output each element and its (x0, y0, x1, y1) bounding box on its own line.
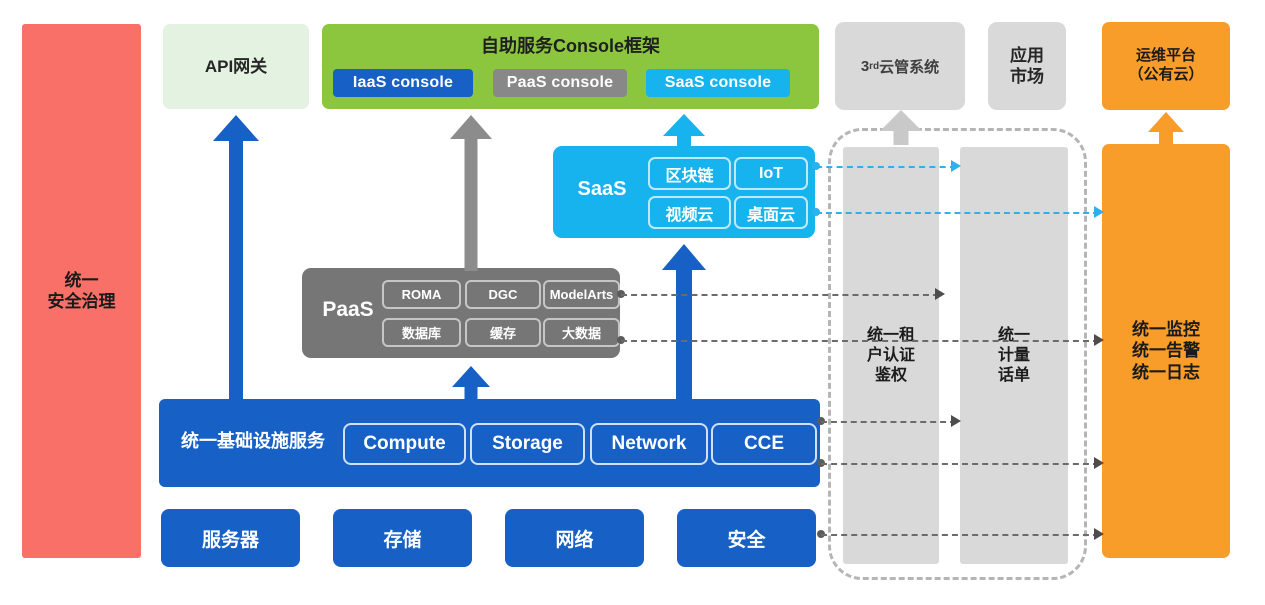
saas-layer-box[interactable]: SaaS 区块链 IoT 视频云 桌面云 (553, 146, 815, 238)
api-gateway-box[interactable]: API网关 (163, 24, 309, 109)
connector-saas-to-auth (816, 166, 956, 168)
saas-service-iot[interactable]: IoT (734, 157, 808, 190)
paas-layer-box[interactable]: PaaS ROMA DGC ModelArts 数据库 缓存 大数据 (302, 268, 620, 358)
console-framework-title: 自助服务Console框架 (322, 32, 819, 58)
third-party-label: 云管系统 (879, 56, 939, 77)
connector-hardware-to-ops (821, 534, 1099, 536)
console-framework-box[interactable]: 自助服务Console框架 IaaS console PaaS console … (322, 24, 819, 109)
architecture-diagram: 统一 安全治理 API网关 自助服务Console框架 IaaS console… (0, 0, 1265, 605)
paas-service-database[interactable]: 数据库 (382, 318, 461, 347)
arrow-platform-to-third-party (880, 110, 922, 145)
arrow-infra-to-paas (452, 366, 490, 402)
infra-service-storage[interactable]: Storage (470, 423, 585, 465)
api-gateway-label: API网关 (205, 56, 267, 77)
app-market-label: 应用 市场 (1010, 45, 1044, 88)
paas-layer-title: PaaS (310, 298, 386, 322)
arrow-saas-to-console (663, 114, 705, 150)
hardware-security-box[interactable]: 安全 (677, 509, 816, 567)
third-party-cloud-mgmt-box[interactable]: 3rd云管系统 (835, 22, 965, 110)
connector-arrowhead-saas-ops (1094, 206, 1104, 218)
arrow-paas-to-console (450, 115, 492, 271)
connector-arrowhead-infra-ops (1094, 457, 1104, 469)
hardware-storage-box[interactable]: 存储 (333, 509, 472, 567)
connector-arrowhead-paas-ops (1094, 334, 1104, 346)
ops-platform-top-label: 运维平台 （公有云） (1128, 47, 1203, 85)
paas-service-dgc[interactable]: DGC (465, 280, 541, 309)
iaas-console-chip[interactable]: IaaS console (333, 69, 473, 97)
arrow-infra-to-api-gateway (213, 115, 259, 399)
paas-service-cache[interactable]: 缓存 (465, 318, 541, 347)
connector-infra-to-auth (821, 421, 956, 423)
paas-console-chip[interactable]: PaaS console (493, 69, 627, 97)
hardware-server-box[interactable]: 服务器 (161, 509, 300, 567)
security-governance-label: 统一 安全治理 (48, 270, 116, 313)
unified-monitoring-panel[interactable]: 统一监控 统一告警 统一日志 (1102, 144, 1230, 558)
unified-monitoring-label: 统一监控 统一告警 统一日志 (1132, 319, 1200, 383)
unified-metering-label: 统一 计量 话单 (998, 326, 1030, 386)
hardware-network-box[interactable]: 网络 (505, 509, 644, 567)
connector-paas-to-auth (621, 294, 939, 296)
infra-service-compute[interactable]: Compute (343, 423, 466, 465)
ops-platform-public-cloud-box[interactable]: 运维平台 （公有云） (1102, 22, 1230, 110)
connector-infra-to-ops (821, 463, 1099, 465)
arrow-ops-body-to-ops-top (1148, 112, 1184, 148)
unified-metering-column[interactable]: 统一 计量 话单 (960, 147, 1068, 564)
saas-layer-title: SaaS (563, 178, 641, 201)
app-market-box[interactable]: 应用 市场 (988, 22, 1066, 110)
unified-infrastructure-title: 统一基础设施服务 (173, 427, 333, 453)
paas-service-bigdata[interactable]: 大数据 (543, 318, 620, 347)
connector-arrowhead-infra-auth (951, 415, 961, 427)
third-party-superscript: rd (869, 61, 879, 72)
connector-arrowhead-paas-auth (935, 288, 945, 300)
connector-arrowhead-saas-auth (951, 160, 961, 172)
saas-service-desktop-cloud[interactable]: 桌面云 (734, 196, 808, 229)
paas-service-modelarts[interactable]: ModelArts (543, 280, 620, 309)
infra-service-cce[interactable]: CCE (711, 423, 817, 465)
unified-infrastructure-box[interactable]: 统一基础设施服务 Compute Storage Network CCE (159, 399, 820, 487)
arrow-infra-to-saas (662, 244, 706, 401)
paas-service-roma[interactable]: ROMA (382, 280, 461, 309)
security-governance-panel[interactable]: 统一 安全治理 (22, 24, 141, 558)
saas-console-chip[interactable]: SaaS console (646, 69, 790, 97)
saas-service-blockchain[interactable]: 区块链 (648, 157, 731, 190)
third-party-prefix: 3 (861, 58, 869, 75)
connector-paas-to-ops (621, 340, 1099, 342)
connector-saas-to-ops (816, 212, 1099, 214)
unified-tenant-auth-column[interactable]: 统一租 户认证 鉴权 (843, 147, 939, 564)
infra-service-network[interactable]: Network (590, 423, 708, 465)
connector-arrowhead-hardware-ops (1094, 528, 1104, 540)
saas-service-video-cloud[interactable]: 视频云 (648, 196, 731, 229)
unified-tenant-auth-label: 统一租 户认证 鉴权 (867, 326, 915, 386)
